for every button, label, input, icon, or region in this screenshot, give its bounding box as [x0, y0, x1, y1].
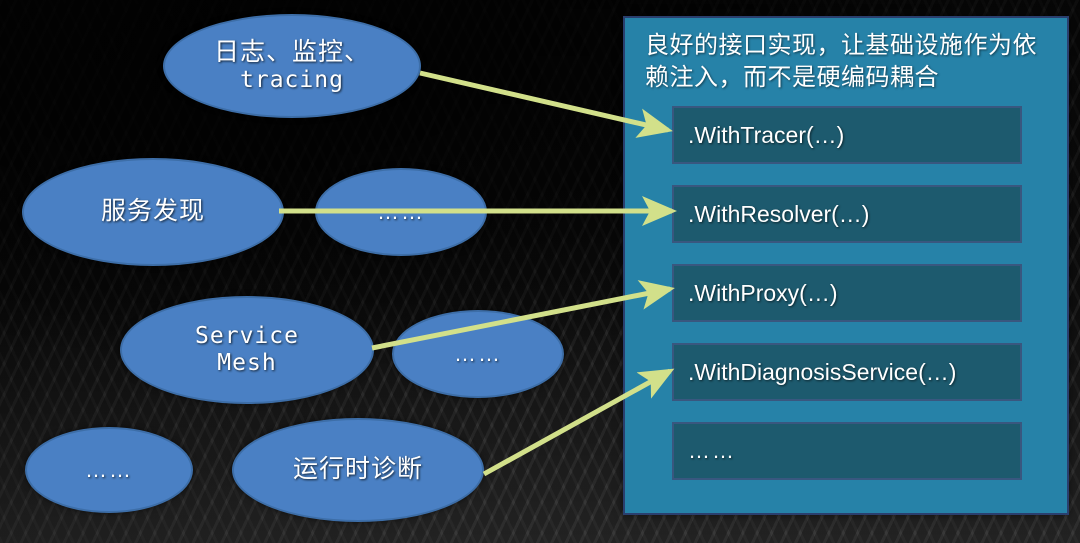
node-ellipsis-3[interactable]: ……	[25, 427, 193, 513]
node-service-mesh[interactable]: Service Mesh	[120, 296, 374, 404]
node-ellipsis-1-label: ……	[377, 199, 425, 225]
node-service-discovery[interactable]: 服务发现	[22, 158, 284, 266]
panel-item-with-proxy[interactable]: .WithProxy(…)	[672, 264, 1022, 322]
node-service-mesh-label-line2: Mesh	[217, 350, 276, 376]
node-service-discovery-label: 服务发现	[101, 197, 205, 227]
slide-canvas: 日志、监控、 tracing 服务发现 …… Service Mesh …… ……	[0, 0, 1080, 543]
panel-item-with-tracer[interactable]: .WithTracer(…)	[672, 106, 1022, 164]
node-service-mesh-label-line1: Service	[195, 323, 299, 349]
node-service-mesh-label: Service Mesh	[195, 323, 299, 377]
node-runtime-diagnostics-label: 运行时诊断	[293, 455, 423, 485]
node-ellipsis-2-label: ……	[454, 341, 502, 367]
node-logging-monitoring-tracing[interactable]: 日志、监控、 tracing	[163, 14, 421, 118]
node-logging-label-line1: 日志、监控、	[214, 38, 370, 66]
node-logging-label: 日志、监控、 tracing	[214, 38, 370, 95]
panel-title: 良好的接口实现，让基础设施作为依赖注入，而不是硬编码耦合	[625, 18, 1067, 95]
node-logging-label-line2: tracing	[240, 67, 344, 93]
node-ellipsis-1[interactable]: ……	[315, 168, 487, 256]
panel-item-ellipsis[interactable]: ……	[672, 422, 1022, 480]
node-runtime-diagnostics[interactable]: 运行时诊断	[232, 418, 484, 522]
panel-item-with-resolver[interactable]: .WithResolver(…)	[672, 185, 1022, 243]
interface-implementation-panel: 良好的接口实现，让基础设施作为依赖注入，而不是硬编码耦合 .WithTracer…	[623, 16, 1069, 515]
node-ellipsis-2[interactable]: ……	[392, 310, 564, 398]
panel-item-with-diagnosis-service[interactable]: .WithDiagnosisService(…)	[672, 343, 1022, 401]
node-ellipsis-3-label: ……	[85, 457, 133, 483]
panel-item-list: .WithTracer(…) .WithResolver(…) .WithPro…	[672, 106, 1022, 501]
